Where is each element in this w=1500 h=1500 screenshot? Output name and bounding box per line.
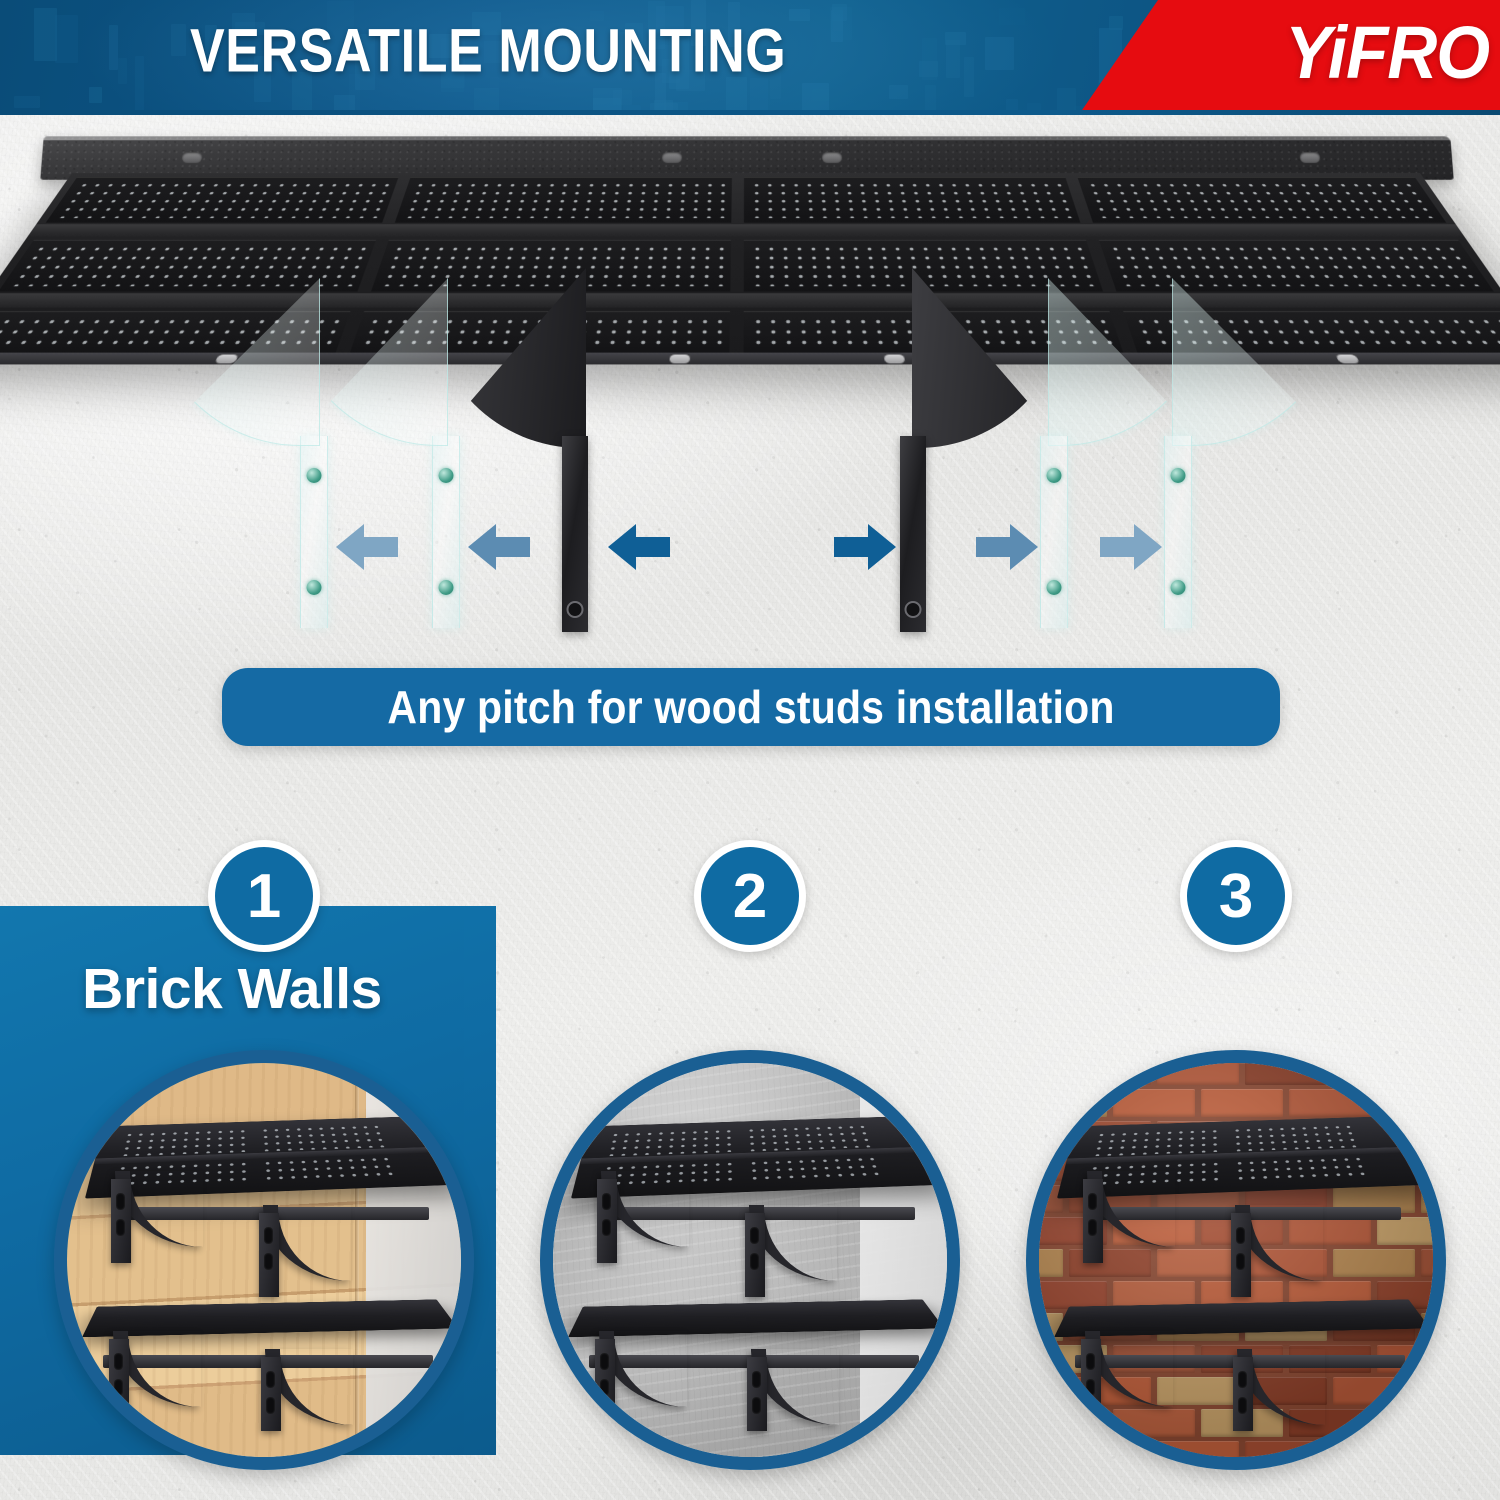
bracket-slot — [116, 1219, 125, 1236]
ghost-bracket-position — [1040, 436, 1068, 628]
bracket-slot — [114, 1379, 123, 1396]
brick — [1113, 1409, 1195, 1437]
brick — [1245, 1441, 1327, 1457]
brick — [1377, 1217, 1433, 1245]
shelf-panel — [395, 177, 732, 222]
perforation-pattern — [119, 1128, 252, 1156]
bracket-slot — [114, 1353, 123, 1370]
lip-hole — [1335, 355, 1360, 364]
mini-bracket — [1081, 1339, 1101, 1417]
bracket-slot — [1238, 1371, 1247, 1388]
photo-inner — [553, 1063, 947, 1457]
brick — [1421, 1313, 1433, 1341]
mini-bracket — [1233, 1357, 1253, 1431]
bracket-slot — [600, 1353, 609, 1370]
mini-bracket — [595, 1339, 615, 1417]
perforation-pattern — [9, 245, 368, 287]
card-photo-brick — [1026, 1050, 1446, 1470]
card-number-badge: 3 — [1180, 840, 1292, 952]
bracket-slot — [1236, 1253, 1245, 1270]
rail-mount-hole — [1300, 152, 1321, 163]
brick — [1069, 1063, 1151, 1085]
bracket-slot — [602, 1193, 611, 1210]
perforation-pattern — [605, 1128, 738, 1156]
arrow-left-solid — [606, 520, 672, 574]
installed-bracket — [562, 436, 588, 632]
ghost-bracket-screw — [439, 468, 454, 483]
bracket-slot — [1238, 1397, 1247, 1414]
brick — [1039, 1377, 1063, 1405]
bracket-slot — [264, 1227, 273, 1244]
installed-bracket — [900, 436, 926, 632]
perforation-pattern — [747, 1155, 887, 1184]
arrow-right-faded — [974, 520, 1040, 574]
bracket-slot — [750, 1227, 759, 1244]
brick — [1421, 1377, 1433, 1405]
photo-inner — [67, 1063, 461, 1457]
mini-bracket — [1083, 1179, 1103, 1263]
brick — [1157, 1249, 1239, 1277]
brick — [1421, 1185, 1433, 1213]
brick — [1201, 1089, 1283, 1117]
ghost-bracket-position — [432, 436, 460, 628]
brick — [1333, 1441, 1415, 1457]
arrow-left-faded — [334, 520, 400, 574]
perforation-pattern — [1107, 245, 1484, 287]
brick — [1421, 1249, 1433, 1277]
brick — [1039, 1121, 1063, 1149]
brick — [1069, 1441, 1151, 1457]
bracket-slot — [1086, 1379, 1095, 1396]
bracket-slot — [752, 1371, 761, 1388]
brick — [1113, 1089, 1195, 1117]
perforation-pattern — [1231, 1124, 1363, 1152]
brick — [1333, 1249, 1415, 1277]
bracket-slot — [266, 1371, 275, 1388]
brick-row — [1039, 1439, 1433, 1457]
card-photo-wood — [54, 1050, 474, 1470]
ghost-bracket-screw — [307, 580, 322, 595]
mini-bracket — [109, 1339, 129, 1417]
perforation-pattern — [1233, 1155, 1373, 1184]
brick — [1333, 1377, 1415, 1405]
mini-bracket — [745, 1213, 765, 1297]
brick — [1421, 1441, 1433, 1457]
brick-row — [1039, 1063, 1433, 1089]
arrow-left-faded — [466, 520, 532, 574]
photo-inner — [1039, 1063, 1433, 1457]
bracket-slot — [752, 1397, 761, 1414]
ghost-bracket-screw — [439, 580, 454, 595]
ghost-bracket-position — [300, 436, 328, 628]
brand-logo: YiFRO — [1285, 9, 1489, 94]
bracket-slot — [600, 1379, 609, 1396]
card-number-badge: 2 — [694, 840, 806, 952]
shelf-panel — [744, 177, 1080, 222]
header-underline — [0, 110, 1500, 115]
brick — [1377, 1089, 1433, 1117]
card-title: Brick Walls — [0, 956, 464, 1022]
lip-hole — [884, 355, 905, 364]
shelf-perforated-deck — [0, 173, 1500, 364]
brick — [1421, 1121, 1433, 1149]
bracket-slot — [1088, 1219, 1097, 1236]
perforation-pattern — [1085, 181, 1437, 218]
wall-type-cards: Wood Walls 1 — [0, 906, 1500, 1466]
brick — [1421, 1063, 1433, 1085]
mini-bracket — [261, 1357, 281, 1431]
mini-bracket — [259, 1213, 279, 1297]
arrow-right-solid — [832, 520, 898, 574]
arrow-right-faded — [1098, 520, 1164, 574]
bracket-slot — [116, 1193, 125, 1210]
ghost-bracket-screw — [307, 468, 322, 483]
brick — [1377, 1409, 1433, 1437]
brick — [1039, 1063, 1063, 1085]
shelf-panel — [46, 177, 399, 222]
ghost-bracket-screw — [1047, 468, 1062, 483]
perforation-pattern — [403, 181, 726, 218]
shelf-front-lip — [0, 353, 1500, 365]
shelf-crossbar — [28, 224, 1465, 236]
rail-mount-hole — [822, 152, 842, 163]
rail-mount-hole — [182, 152, 203, 163]
brick — [1069, 1249, 1151, 1277]
bracket-slot — [266, 1397, 275, 1414]
bracket-slot — [1088, 1193, 1097, 1210]
pitch-banner-label: Any pitch for wood studs installation — [387, 680, 1114, 734]
card-number-badge: 1 — [208, 840, 320, 952]
brick — [1039, 1441, 1063, 1457]
ghost-bracket-screw — [1171, 580, 1186, 595]
shelf-panel — [1077, 177, 1446, 222]
bracket-slot — [1236, 1227, 1245, 1244]
perforation-pattern — [1091, 1128, 1224, 1156]
brick — [1157, 1441, 1239, 1457]
mini-bracket — [747, 1357, 767, 1431]
bracket-slot — [602, 1219, 611, 1236]
card-photo-concrete — [540, 1050, 960, 1470]
brick — [1039, 1249, 1063, 1277]
brick — [1289, 1089, 1371, 1117]
brick — [1245, 1063, 1327, 1085]
perforation-pattern — [745, 1124, 877, 1152]
brick — [1333, 1063, 1415, 1085]
shelf-panel — [1099, 240, 1494, 292]
mini-bracket — [1231, 1213, 1251, 1297]
brick — [1157, 1063, 1239, 1085]
ghost-bracket-screw — [1171, 468, 1186, 483]
hero-illustration — [0, 118, 1500, 638]
bracket-slot — [264, 1253, 273, 1270]
mini-bracket — [111, 1179, 131, 1263]
bracket-slot — [750, 1253, 759, 1270]
rail-mount-hole — [662, 152, 682, 163]
ghost-bracket-position — [1164, 436, 1192, 628]
page-title: VERSATILE MOUNTING — [190, 16, 786, 87]
pitch-banner: Any pitch for wood studs installation — [222, 668, 1280, 746]
shelf-crossbar — [0, 293, 1500, 307]
perforation-pattern — [259, 1124, 391, 1152]
brick — [1039, 1089, 1107, 1117]
mini-bracket — [597, 1179, 617, 1263]
perforation-pattern — [750, 181, 1073, 218]
bracket-slot — [1086, 1353, 1095, 1370]
perforation-pattern — [55, 181, 391, 218]
shelf-panel — [371, 240, 731, 292]
header-bar: VERSATILE MOUNTING YiFRO — [0, 0, 1500, 113]
lip-hole — [669, 355, 690, 364]
perforation-pattern — [261, 1155, 401, 1184]
perforation-pattern — [380, 245, 725, 287]
ghost-bracket-screw — [1047, 580, 1062, 595]
